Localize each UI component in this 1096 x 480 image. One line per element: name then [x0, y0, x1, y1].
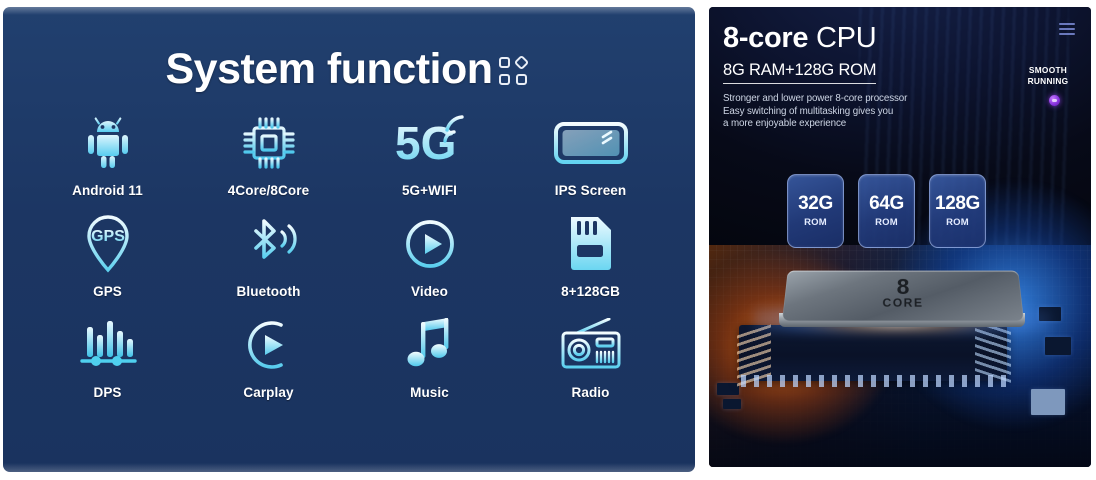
rom-size: 32G — [798, 194, 833, 214]
rom-unit: ROM — [946, 217, 969, 228]
promo-graphic: System function — [0, 0, 1096, 480]
chip-core-count: 8 — [785, 278, 1021, 296]
cpu-heading: 8-core CPU — [723, 21, 983, 55]
feature-item-radio[interactable]: Radio — [510, 314, 671, 414]
rom-size: 64G — [869, 194, 904, 214]
bluetooth-icon — [238, 213, 300, 275]
rom-unit: ROM — [804, 217, 827, 228]
feature-item-bluetooth[interactable]: Bluetooth — [188, 213, 349, 313]
rom-option-128g[interactable]: 128G ROM — [929, 174, 986, 248]
smd-component — [723, 399, 741, 409]
system-function-panel: System function — [3, 7, 695, 472]
rom-unit: ROM — [875, 217, 898, 228]
equalizer-dps-icon — [79, 314, 137, 376]
feature-label: IPS Screen — [555, 183, 627, 198]
svg-text:5G: 5G — [395, 117, 456, 169]
sd-card-icon — [566, 213, 616, 275]
rom-options-row: 32G ROM 64G ROM 128G ROM — [787, 174, 986, 248]
cpu-headline-block: 8-core CPU 8G RAM+128G ROM Stronger and … — [723, 21, 983, 131]
ips-screen-icon — [553, 112, 629, 174]
feature-label: Bluetooth — [237, 284, 301, 299]
cpu-heading-strong: 8-core — [723, 22, 808, 54]
feature-item-cores[interactable]: 4Core/8Core — [188, 112, 349, 212]
feature-grid: Android 11 — [27, 112, 671, 414]
cpu-heading-rest: CPU — [808, 22, 876, 54]
smooth-running-badge: SMOOTH RUNNING — [1017, 65, 1079, 86]
chip-pins-front — [741, 375, 1007, 387]
purple-status-dot-icon — [1049, 95, 1060, 106]
chip-branding: 8 CORE — [783, 278, 1022, 310]
feature-item-android[interactable]: Android 11 — [27, 112, 188, 212]
cpu-chip-render: 8 CORE — [777, 269, 1027, 339]
smd-component — [1045, 337, 1071, 355]
feature-item-carplay[interactable]: Carplay — [188, 314, 349, 414]
radio-icon — [559, 314, 623, 376]
feature-label: 8+128GB — [561, 284, 620, 299]
cpu-promo-panel: 8 CORE 8-core CPU 8G RAM+128G ROM Strong… — [709, 7, 1091, 467]
svg-text:GPS: GPS — [91, 228, 125, 245]
chip-lid: 8 CORE — [782, 271, 1024, 321]
video-play-icon — [402, 213, 458, 275]
music-note-icon — [404, 314, 456, 376]
smd-component — [717, 383, 739, 395]
chip-core-word: CORE — [783, 296, 1022, 310]
feature-item-gps[interactable]: GPS GPS — [27, 213, 188, 313]
5g-signal-icon: 5G — [395, 112, 465, 174]
feature-item-storage[interactable]: 8+128GB — [510, 213, 671, 313]
feature-label: Radio — [571, 385, 609, 400]
rom-option-64g[interactable]: 64G ROM — [858, 174, 915, 248]
feature-label: 5G+WIFI — [402, 183, 457, 198]
feature-label: DPS — [93, 385, 121, 400]
feature-label: Carplay — [243, 385, 293, 400]
smd-component — [1031, 389, 1065, 415]
android-robot-icon — [80, 112, 136, 174]
gps-pin-icon: GPS — [82, 213, 134, 275]
feature-item-dps[interactable]: DPS — [27, 314, 188, 414]
feature-label: Music — [410, 385, 449, 400]
rom-option-32g[interactable]: 32G ROM — [787, 174, 844, 248]
grid-diamond-icon — [499, 55, 533, 89]
feature-item-5g-wifi[interactable]: 5G 5G+WIFI — [349, 112, 510, 212]
feature-item-ips-screen[interactable]: IPS Screen — [510, 112, 671, 212]
cpu-description: Stronger and lower power 8-core processo… — [723, 93, 983, 131]
feature-item-video[interactable]: Video — [349, 213, 510, 313]
panel-title-row: System function — [3, 45, 695, 94]
cpu-subheading: 8G RAM+128G ROM — [723, 61, 876, 84]
cpu-chip-icon — [241, 112, 297, 174]
feature-label: Video — [411, 284, 448, 299]
rom-size: 128G — [935, 194, 980, 214]
feature-label: Android 11 — [72, 183, 143, 198]
carplay-icon — [241, 314, 297, 376]
hamburger-menu-icon[interactable] — [1059, 23, 1075, 35]
feature-item-music[interactable]: Music — [349, 314, 510, 414]
page-title: System function — [166, 45, 493, 94]
feature-label: GPS — [93, 284, 122, 299]
feature-label: 4Core/8Core — [228, 183, 309, 198]
